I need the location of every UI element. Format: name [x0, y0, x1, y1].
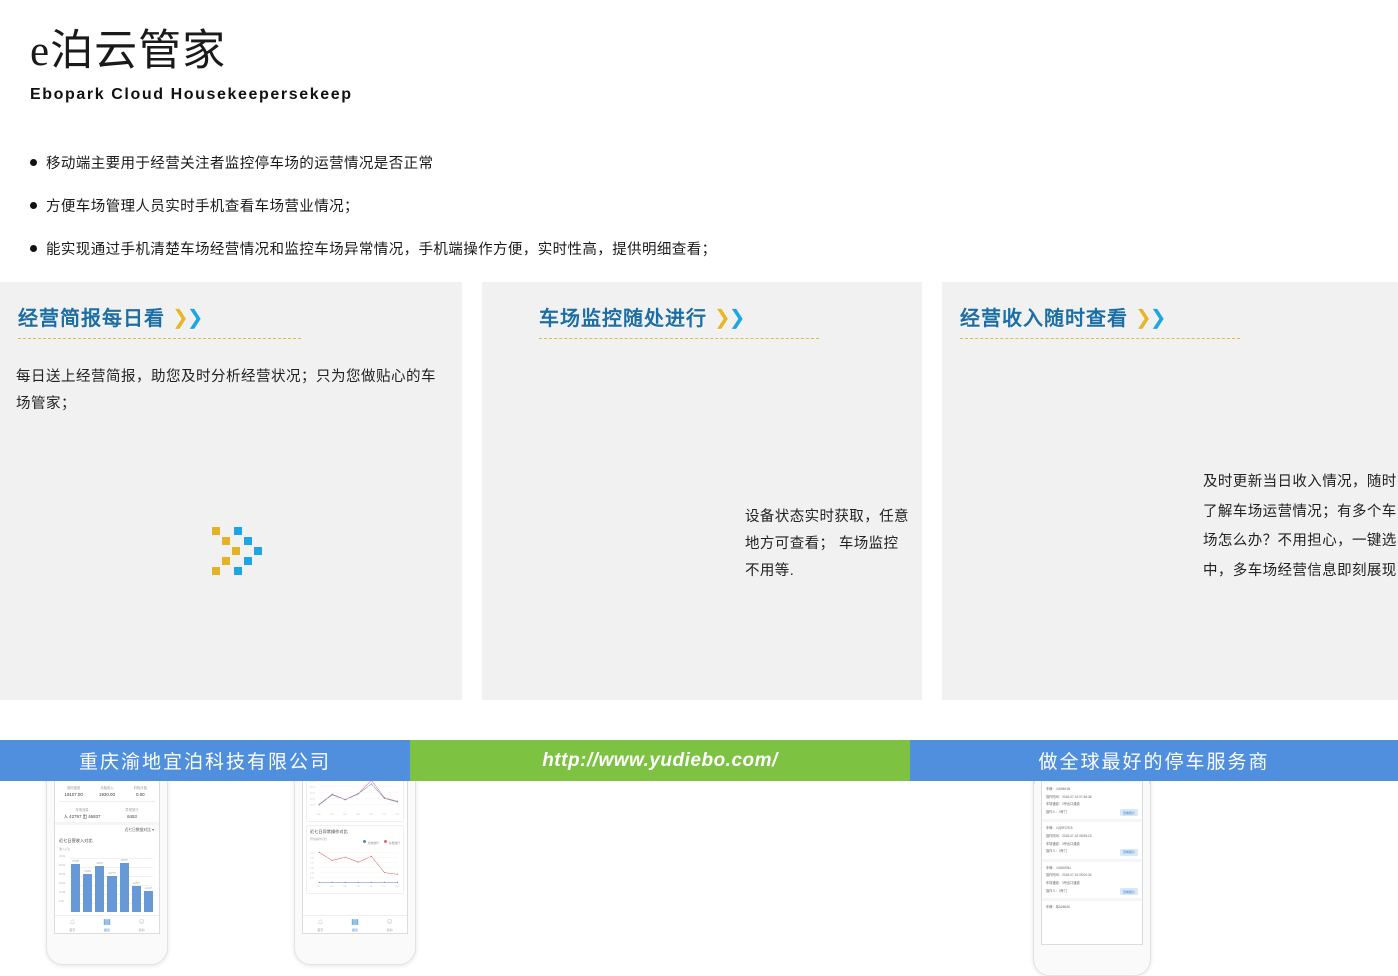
- panel-title-text: 车场监控随处进行: [539, 302, 707, 331]
- report-icon: ▤: [103, 918, 111, 926]
- panel-header: 经营收入随时查看 ❯ ❯: [960, 302, 1240, 339]
- chart-plot-area: 2.001.601.200.800.400.007/067/077/087/09…: [310, 846, 400, 892]
- footer-url[interactable]: http://www.yudiebo.com/: [410, 740, 910, 781]
- stats-row-2: 车场流量入 42797 出 46837 异常放行6453: [55, 804, 159, 822]
- stat-value: 入 42797 出 46837: [57, 814, 107, 820]
- chart-svg: 2.001.601.200.800.400.007/067/077/087/09…: [310, 846, 400, 892]
- arrow-pixel: [212, 527, 220, 535]
- panel-title-text: 经营简报每日看: [18, 302, 165, 331]
- svg-text:7/08: 7/08: [343, 886, 348, 888]
- legend-entry: 异常放行: [363, 841, 379, 845]
- chevron-right-blue-icon: ❯: [1150, 307, 1168, 327]
- chevron-pair-icon: ❯ ❯: [172, 307, 205, 327]
- record-time: 操作时间：2018-07-16 09:00:34: [1046, 872, 1138, 877]
- tab-label: 我的: [139, 928, 145, 932]
- tab-label: 报表: [352, 928, 358, 932]
- panel-description: 每日送上经营简报，助您及时分析经营状况；只为您做贴心的车场管家；: [16, 364, 436, 418]
- chart-bar: 20770: [107, 876, 116, 912]
- panel-header: 经营简报每日看 ❯ ❯: [18, 302, 301, 339]
- svg-text:1.20: 1.20: [310, 862, 315, 864]
- svg-text:7/12: 7/12: [395, 886, 400, 888]
- view-photo-button[interactable]: 查看照片: [1120, 888, 1138, 895]
- svg-text:7/09: 7/09: [356, 886, 361, 888]
- panel-title: 经营简报每日看 ❯ ❯: [18, 302, 301, 331]
- svg-text:7/06: 7/06: [317, 886, 322, 888]
- record-channel: 车场通道：2号出口通道: [1046, 801, 1138, 806]
- svg-text:7/12: 7/12: [395, 814, 400, 816]
- bullet-text: 移动端主要用于经营关注者监控停车场的运营情况是否正常: [46, 152, 433, 173]
- record-channel: 车场通道：3号出口通道: [1046, 880, 1138, 885]
- bottom-tab-bar[interactable]: ⌂首页 ▤报表 ☺我的: [303, 915, 407, 933]
- arrow-pixel: [232, 547, 240, 555]
- list-item[interactable]: 车牌：川AD693U 操作时间：2018-07-16 09:00:34 车场通道…: [1042, 859, 1142, 898]
- record-plate: 车牌：川Q9FC915: [1046, 825, 1138, 830]
- feature-panels: 经营简报每日看 ❯ ❯ 每日送上经营简报，助您及时分析经营状况；只为您做贴心的车…: [0, 282, 1398, 742]
- chevron-right-blue-icon: ❯: [187, 307, 205, 327]
- record-channel: 车场通道：3号出口通道: [1046, 841, 1138, 846]
- svg-text:0.80: 0.80: [310, 867, 315, 869]
- arrow-pixel: [234, 567, 242, 575]
- period-selector[interactable]: 近七日数据对比 ▾: [55, 822, 159, 835]
- stat-label: 月租收入: [90, 785, 123, 790]
- record-plate: 车牌：粤A26646: [1046, 904, 1138, 909]
- report-icon: ▤: [351, 918, 359, 926]
- panel-daily-report: 经营简报每日看 ❯ ❯ 每日送上经营简报，助您及时分析经营状况；只为您做贴心的车…: [0, 282, 462, 742]
- record-plate: 车牌：川AD693U: [1046, 865, 1138, 870]
- stat-cell: 异常放行6453: [107, 807, 157, 820]
- bullet-dot-icon: [30, 202, 37, 209]
- bullet-text: 能实现通过手机清楚车场经营情况和监控车场异常情况，手机端操作方便，实时性高，提供…: [46, 238, 717, 259]
- abnormal-ops-line-chart: 近七日异常操作对比 异常操作(次) 异常放行 免费放行 2.001.601.20…: [306, 825, 404, 894]
- stat-value: 19107.00: [57, 792, 90, 797]
- chevron-right-blue-icon: ❯: [729, 307, 747, 327]
- stat-cell: 临时缴费19107.00: [57, 785, 90, 797]
- footer-company: 重庆渝地宜泊科技有限公司: [0, 740, 410, 781]
- stat-cell: 车场流量入 42797 出 46837: [57, 807, 107, 820]
- arrow-pixel: [212, 567, 220, 575]
- tab-mine[interactable]: ☺我的: [124, 916, 159, 933]
- revenue-bar-chart: 近七日营收入对比 收入(元) 30.0k25.0k20.0k15.0k10.0k…: [55, 835, 159, 916]
- stat-label: 临时缴费: [57, 785, 90, 790]
- record-plate: 车牌：川A9461B: [1046, 786, 1138, 791]
- svg-text:7/08: 7/08: [343, 814, 348, 816]
- svg-text:7/07: 7/07: [330, 886, 335, 888]
- arrow-pixel: [222, 557, 230, 565]
- panel-monitoring: 车场监控随处进行 ❯ ❯ 中国联通 4G 下午1:50 60% ‹: [482, 282, 922, 742]
- panel-header: 车场监控随处进行 ❯ ❯: [539, 302, 819, 339]
- stat-value: 0.00: [124, 792, 157, 797]
- stat-cell: 月租收入1930.00: [90, 785, 123, 797]
- chart-bar: 14827: [132, 886, 141, 912]
- chart-bar: 27788: [71, 864, 80, 912]
- arrow-pixel: [222, 537, 230, 545]
- record-time: 操作时间：2018-07-16 08:55:15: [1046, 833, 1138, 838]
- svg-text:7/11: 7/11: [382, 814, 387, 816]
- record-time: 操作时间：2018-07-16 07:46:36: [1046, 794, 1138, 799]
- bullet-dot-icon: [30, 159, 37, 166]
- list-item[interactable]: 车牌：川A9461B 操作时间：2018-07-16 07:46:36 车场通道…: [1042, 780, 1142, 819]
- chart-bar: 28075: [120, 863, 129, 912]
- tab-report[interactable]: ▤报表: [90, 916, 125, 933]
- svg-text:7/11: 7/11: [382, 886, 387, 888]
- tab-label: 首页: [317, 928, 323, 932]
- arrow-pixel: [244, 557, 252, 565]
- view-photo-button[interactable]: 查看照片: [1120, 849, 1138, 856]
- legend-entry: 免费放行: [384, 841, 400, 845]
- chevron-pair-icon: ❯ ❯: [1135, 307, 1168, 327]
- svg-text:60.00: 60.00: [310, 792, 316, 794]
- panel-divider: [960, 338, 1240, 339]
- panel-description: 及时更新当日收入情况，随时了解车场运营情况；有多个车场怎么办？不用担心，一键选中…: [1203, 468, 1398, 587]
- arrow-pixel: [254, 547, 262, 555]
- svg-text:7/07: 7/07: [330, 814, 335, 816]
- bottom-tab-bar[interactable]: ⌂首页 ▤报表 ☺我的: [55, 915, 159, 933]
- chart-title: 近七日营收入对比: [59, 838, 155, 844]
- panel-title-text: 经营收入随时查看: [960, 302, 1128, 331]
- footer-slogan: 做全球最好的停车服务商: [910, 740, 1398, 781]
- chart-legend: 异常放行 免费放行: [310, 841, 400, 845]
- page-footer: 重庆渝地宜泊科技有限公司 http://www.yudiebo.com/ 做全球…: [0, 740, 1398, 781]
- panel-description: 设备状态实时获取，任意地方可查看； 车场监控不用等.: [745, 504, 910, 584]
- stat-value: 1930.00: [90, 792, 123, 797]
- user-icon: ☺: [386, 918, 394, 926]
- tab-home[interactable]: ⌂首页: [303, 916, 338, 933]
- svg-text:1.60: 1.60: [310, 857, 315, 859]
- decorative-swoosh: [0, 700, 1398, 740]
- bullet-text: 方便车场管理人员实时手机查看车场营业情况；: [46, 195, 359, 216]
- panel-income: 经营收入随时查看 ❯ ❯ 中国联通 4G 下午1:42 41%: [942, 282, 1398, 742]
- svg-text:7/06: 7/06: [317, 814, 322, 816]
- svg-text:7/10: 7/10: [369, 886, 374, 888]
- page-subtitle: Ebopark Cloud Housekeepersekeep: [30, 86, 353, 104]
- stat-value: 6453: [107, 814, 157, 819]
- list-item: 能实现通过手机清楚车场经营情况和监控车场异常情况，手机端操作方便，实时性高，提供…: [30, 238, 1030, 259]
- chart-bar: 12107: [144, 891, 153, 912]
- tab-report[interactable]: ▤报表: [338, 916, 373, 933]
- tab-home[interactable]: ⌂首页: [55, 916, 90, 933]
- svg-text:80.00: 80.00: [310, 786, 316, 788]
- bullet-dot-icon: [30, 245, 37, 252]
- pixel-arrow-icon: [212, 527, 268, 577]
- svg-text:0.40: 0.40: [310, 872, 315, 874]
- chart-bar: 21961: [83, 874, 92, 912]
- panel-divider: [18, 338, 301, 339]
- svg-text:7/09: 7/09: [356, 814, 361, 816]
- stat-label: 时段月租: [124, 785, 157, 790]
- svg-text:0.00: 0.00: [310, 877, 315, 879]
- chevron-pair-icon: ❯ ❯: [714, 307, 747, 327]
- panel-title: 经营收入随时查看 ❯ ❯: [960, 302, 1240, 331]
- home-icon: ⌂: [70, 918, 75, 926]
- svg-text:20.00: 20.00: [310, 804, 316, 806]
- panel-divider: [539, 338, 819, 339]
- stat-label: 异常放行: [107, 807, 157, 812]
- tab-label: 我的: [387, 928, 393, 932]
- view-photo-button[interactable]: 查看照片: [1120, 809, 1138, 816]
- svg-text:2.00: 2.00: [310, 852, 315, 854]
- divider: [59, 801, 155, 802]
- page-title: e泊云管家: [30, 16, 226, 78]
- stat-cell: 时段月租0.00: [124, 785, 157, 797]
- home-icon: ⌂: [318, 918, 323, 926]
- chart-subtitle: 收入(元): [59, 846, 155, 851]
- panel-title: 车场监控随处进行 ❯ ❯: [539, 302, 819, 331]
- arrow-pixel: [234, 527, 242, 535]
- list-item: 移动端主要用于经营关注者监控停车场的运营情况是否正常: [30, 152, 1030, 173]
- arrow-pixel: [244, 537, 252, 545]
- chart-plot-area: 30.0k25.0k20.0k15.0k10.0k5.0k27788219612…: [59, 854, 155, 916]
- tab-label: 首页: [69, 928, 75, 932]
- tab-label: 报表: [104, 928, 110, 932]
- chart-title: 近七日异常操作对比: [310, 829, 400, 835]
- list-item: 方便车场管理人员实时手机查看车场营业情况；: [30, 195, 1030, 216]
- stats-row-1: 临时缴费19107.00 月租收入1930.00 时段月租0.00: [55, 782, 159, 799]
- svg-text:40.00: 40.00: [310, 798, 316, 800]
- feature-bullet-list: 移动端主要用于经营关注者监控停车场的运营情况是否正常 方便车场管理人员实时手机查…: [30, 152, 1030, 281]
- stat-label: 车场流量: [57, 807, 107, 812]
- chart-bar: 26517: [95, 866, 104, 912]
- tab-mine[interactable]: ☺我的: [372, 916, 407, 933]
- svg-text:7/10: 7/10: [369, 814, 374, 816]
- list-item[interactable]: 车牌：粤A26646: [1042, 898, 1142, 915]
- list-item[interactable]: 车牌：川Q9FC915 操作时间：2018-07-16 08:55:15 车场通…: [1042, 819, 1142, 858]
- user-icon: ☺: [138, 918, 146, 926]
